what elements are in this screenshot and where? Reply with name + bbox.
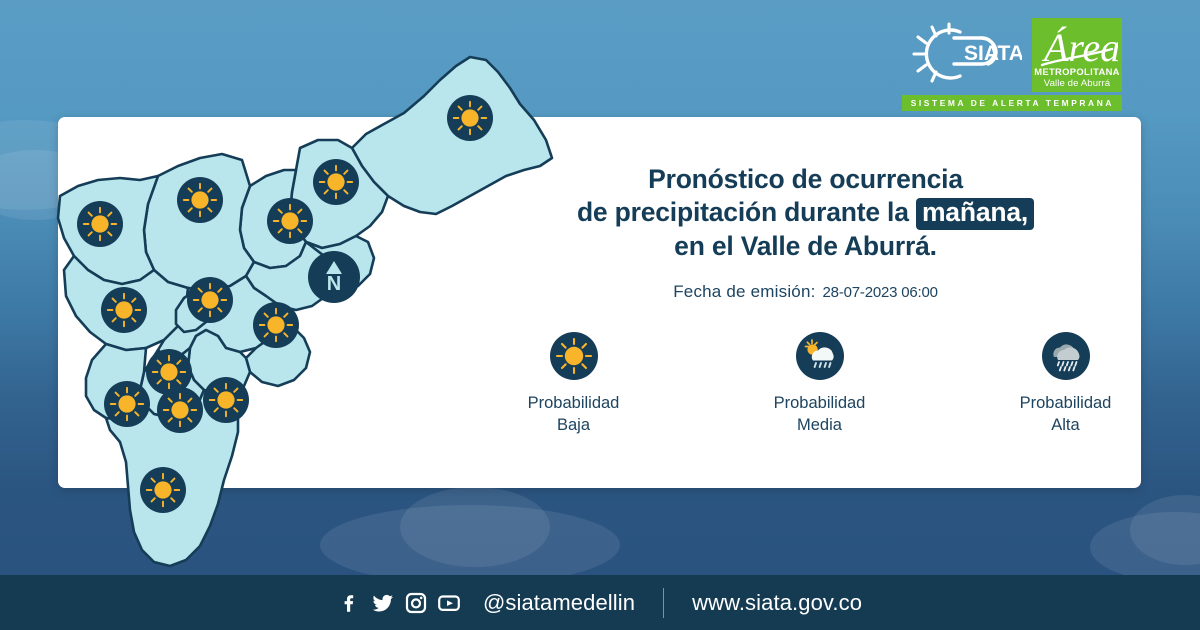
page-title: Pronóstico de ocurrencia de precipitació… [496,163,1116,264]
title-line-2-text: de precipitación durante la [577,197,909,227]
logo-group: SIATA Área METROPOLITANA Valle de Aburrá [904,18,1122,92]
twitter-icon[interactable] [371,591,395,615]
legend-alta-line1: Probabilidad [1020,393,1112,415]
youtube-icon[interactable] [437,591,461,615]
sun-icon [550,332,598,380]
title-highlight-period: mañana, [916,198,1034,230]
siata-logo-icon: SIATA [904,18,1022,90]
title-line-2: de precipitación durante la mañana, [496,196,1116,230]
legend-item-alta: Probabilidad Alta [996,332,1136,437]
website-url[interactable]: www.siata.gov.co [692,590,862,616]
emission-value: 28-07-2023 06:00 [823,284,938,301]
area-valle-label: Valle de Aburrá [1044,78,1110,90]
emission-row: Fecha de emisión: 28-07-2023 06:00 [673,282,938,302]
legend-item-media: Probabilidad Media [750,332,890,437]
footer-bar: @siatamedellin www.siata.gov.co [0,575,1200,630]
legend-media-line1: Probabilidad [774,393,866,415]
siata-wordmark: SIATA [964,42,1022,65]
probability-legend: Probabilidad Baja [470,332,1141,437]
legend-label-baja: Probabilidad Baja [528,393,620,437]
background-cloud-center-2 [400,487,550,567]
facebook-icon[interactable] [338,591,362,615]
legend-media-line2: Media [774,415,866,437]
area-metropolitana-logo: Área METROPOLITANA Valle de Aburrá [1032,18,1122,92]
social-icons [338,591,461,615]
sun-rain-cloud-icon [796,332,844,380]
heavy-rain-cloud-icon [1042,332,1090,380]
emission-label: Fecha de emisión: [673,282,815,302]
footer-divider [663,588,664,618]
legend-label-alta: Probabilidad Alta [1020,393,1112,437]
legend-label-media: Probabilidad Media [774,393,866,437]
legend-alta-line2: Alta [1020,415,1112,437]
title-line-1: Pronóstico de ocurrencia [496,163,1116,196]
legend-baja-line1: Probabilidad [528,393,620,415]
footer-content: @siatamedellin www.siata.gov.co [338,588,862,618]
forecast-panel: Pronóstico de ocurrencia de precipitació… [470,117,1141,488]
siata-tagline: SISTEMA DE ALERTA TEMPRANA [902,95,1122,111]
area-script-icon: Área [1036,19,1118,71]
legend-baja-line2: Baja [528,415,620,437]
instagram-icon[interactable] [404,591,428,615]
legend-item-baja: Probabilidad Baja [504,332,644,437]
social-handle[interactable]: @siatamedellin [483,590,635,616]
title-line-3: en el Valle de Aburrá. [496,230,1116,263]
